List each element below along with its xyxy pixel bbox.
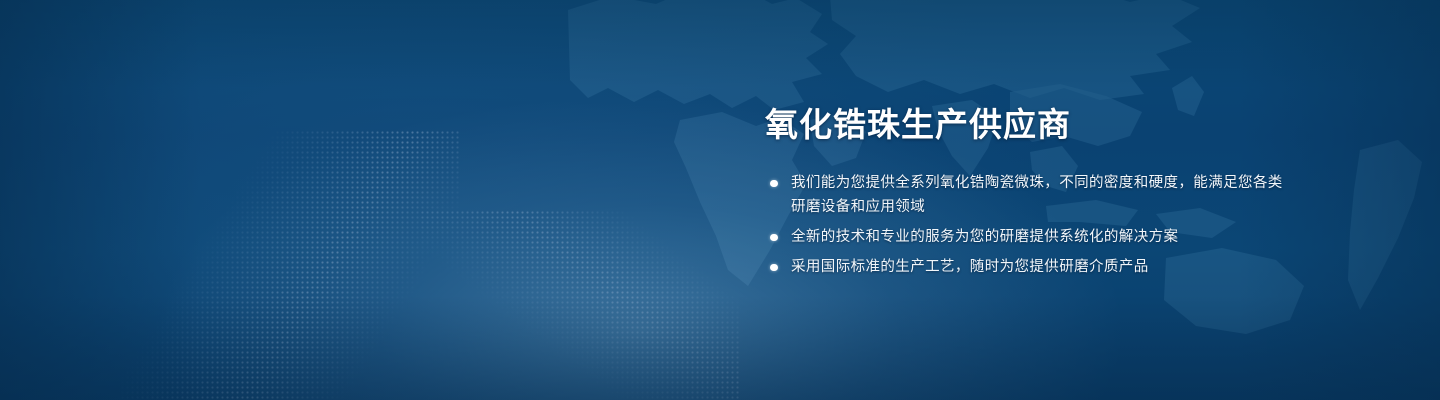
- list-item: 我们能为您提供全系列氧化锆陶瓷微珠，不同的密度和硬度，能满足您各类研磨设备和应用…: [765, 171, 1285, 219]
- bullet-dot-icon: [770, 180, 778, 188]
- list-item: 全新的技术和专业的服务为您的研磨提供系统化的解决方案: [765, 225, 1285, 249]
- page-title: 氧化锆珠生产供应商: [765, 104, 1285, 145]
- list-item-label: 全新的技术和专业的服务为您的研磨提供系统化的解决方案: [791, 229, 1178, 245]
- banner-copy: 氧化锆珠生产供应商 我们能为您提供全系列氧化锆陶瓷微珠，不同的密度和硬度，能满足…: [765, 104, 1285, 279]
- list-item: 采用国际标准的生产工艺，随时为您提供研磨介质产品: [765, 255, 1285, 279]
- hero-banner: 氧化锆珠生产供应商 我们能为您提供全系列氧化锆陶瓷微珠，不同的密度和硬度，能满足…: [0, 0, 1440, 400]
- list-item-label: 我们能为您提供全系列氧化锆陶瓷微珠，不同的密度和硬度，能满足您各类研磨设备和应用…: [791, 175, 1283, 215]
- bullet-dot-icon: [770, 234, 778, 242]
- bullet-dot-icon: [770, 264, 778, 272]
- list-item-label: 采用国际标准的生产工艺，随时为您提供研磨介质产品: [791, 259, 1149, 275]
- feature-list: 我们能为您提供全系列氧化锆陶瓷微珠，不同的密度和硬度，能满足您各类研磨设备和应用…: [765, 171, 1285, 279]
